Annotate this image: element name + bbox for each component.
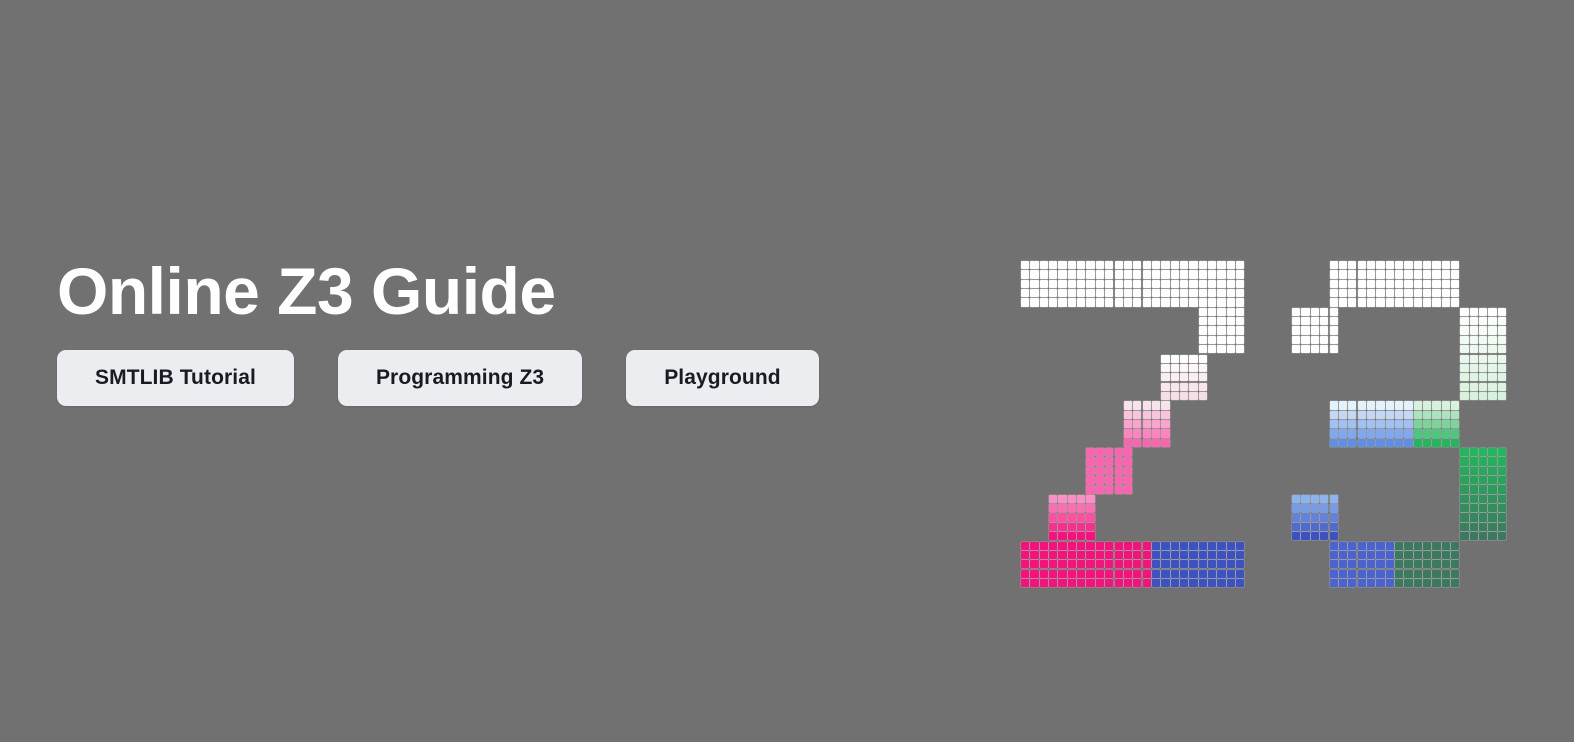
logo-pixel xyxy=(1030,579,1038,587)
logo-pixel xyxy=(1058,551,1066,559)
logo-pixel xyxy=(1143,579,1151,587)
programming-z3-button[interactable]: Programming Z3 xyxy=(338,350,582,406)
logo-pixel xyxy=(1199,308,1207,316)
logo-pixel xyxy=(1442,551,1450,559)
logo-pixel xyxy=(1470,495,1478,503)
cta-button-row: SMTLIB Tutorial Programming Z3 Playgroun… xyxy=(57,350,957,406)
logo-pixel xyxy=(1049,532,1057,540)
logo-pixel xyxy=(1105,298,1113,306)
logo-pixel xyxy=(1021,280,1029,288)
logo-pixel xyxy=(1395,289,1403,297)
logo-pixel xyxy=(1058,532,1066,540)
logo-pixel xyxy=(1021,579,1029,587)
logo-pixel xyxy=(1058,270,1066,278)
logo-pixel xyxy=(1171,289,1179,297)
logo-pixel xyxy=(1217,289,1225,297)
logo-pixel xyxy=(1217,570,1225,578)
logo-pixel xyxy=(1386,570,1394,578)
logo-pixel xyxy=(1404,429,1412,437)
logo-pixel xyxy=(1311,513,1319,521)
logo-pixel xyxy=(1367,411,1375,419)
logo-pixel xyxy=(1488,448,1496,456)
logo-pixel xyxy=(1330,504,1338,512)
logo-pixel xyxy=(1320,504,1328,512)
logo-pixel xyxy=(1068,542,1076,550)
logo-pixel xyxy=(1124,542,1132,550)
logo-pixel xyxy=(1386,411,1394,419)
logo-pixel xyxy=(1068,532,1076,540)
logo-pixel xyxy=(1086,261,1094,269)
logo-pixel xyxy=(1105,570,1113,578)
logo-pixel xyxy=(1049,298,1057,306)
logo-pixel xyxy=(1180,570,1188,578)
logo-pixel xyxy=(1199,392,1207,400)
logo-pixel xyxy=(1330,542,1338,550)
logo-pixel xyxy=(1488,373,1496,381)
logo-pixel xyxy=(1236,317,1244,325)
logo-pixel xyxy=(1348,401,1356,409)
logo-pixel xyxy=(1236,542,1244,550)
logo-pixel xyxy=(1348,570,1356,578)
logo-pixel xyxy=(1171,542,1179,550)
logo-pixel xyxy=(1460,392,1468,400)
logo-pixel xyxy=(1442,570,1450,578)
logo-pixel xyxy=(1077,280,1085,288)
logo-pixel xyxy=(1180,298,1188,306)
logo-pixel xyxy=(1395,280,1403,288)
logo-pixel xyxy=(1442,420,1450,428)
logo-pixel xyxy=(1451,411,1459,419)
logo-pixel xyxy=(1143,429,1151,437)
logo-pixel xyxy=(1143,261,1151,269)
logo-pixel xyxy=(1451,542,1459,550)
logo-pixel xyxy=(1479,467,1487,475)
logo-pixel xyxy=(1442,289,1450,297)
logo-pixel xyxy=(1105,579,1113,587)
z3-pixel-logo xyxy=(1021,261,1521,591)
logo-pixel xyxy=(1311,317,1319,325)
logo-pixel xyxy=(1470,485,1478,493)
logo-pixel xyxy=(1161,373,1169,381)
logo-pixel xyxy=(1171,298,1179,306)
logo-pixel xyxy=(1115,542,1123,550)
logo-pixel xyxy=(1339,298,1347,306)
logo-pixel xyxy=(1217,326,1225,334)
logo-pixel xyxy=(1096,289,1104,297)
logo-pixel xyxy=(1208,261,1216,269)
logo-pixel xyxy=(1479,495,1487,503)
logo-pixel xyxy=(1068,560,1076,568)
logo-pixel xyxy=(1451,261,1459,269)
logo-pixel xyxy=(1470,513,1478,521)
logo-pixel xyxy=(1358,280,1366,288)
logo-pixel xyxy=(1460,457,1468,465)
logo-pixel xyxy=(1311,345,1319,353)
logo-pixel xyxy=(1498,364,1506,372)
logo-pixel xyxy=(1479,317,1487,325)
logo-pixel xyxy=(1152,298,1160,306)
logo-pixel xyxy=(1143,289,1151,297)
logo-pixel xyxy=(1189,579,1197,587)
logo-pixel xyxy=(1386,280,1394,288)
logo-pixel xyxy=(1292,308,1300,316)
logo-pixel xyxy=(1301,495,1309,503)
logo-pixel xyxy=(1180,261,1188,269)
logo-pixel xyxy=(1143,401,1151,409)
logo-pixel xyxy=(1479,448,1487,456)
logo-pixel xyxy=(1404,289,1412,297)
logo-pixel xyxy=(1358,270,1366,278)
logo-pixel xyxy=(1386,439,1394,447)
logo-pixel xyxy=(1040,560,1048,568)
logo-pixel xyxy=(1330,560,1338,568)
logo-pixel xyxy=(1189,383,1197,391)
logo-pixel xyxy=(1077,570,1085,578)
logo-pixel xyxy=(1470,308,1478,316)
logo-pixel xyxy=(1330,579,1338,587)
logo-pixel xyxy=(1133,270,1141,278)
logo-pixel xyxy=(1096,457,1104,465)
logo-pixel xyxy=(1236,289,1244,297)
logo-pixel xyxy=(1058,261,1066,269)
logo-pixel xyxy=(1086,495,1094,503)
logo-pixel xyxy=(1311,532,1319,540)
logo-pixel xyxy=(1021,261,1029,269)
logo-pixel xyxy=(1058,513,1066,521)
logo-pixel xyxy=(1470,467,1478,475)
logo-pixel xyxy=(1208,280,1216,288)
logo-pixel xyxy=(1086,551,1094,559)
logo-pixel xyxy=(1301,513,1309,521)
logo-pixel xyxy=(1180,364,1188,372)
logo-pixel xyxy=(1161,364,1169,372)
logo-pixel xyxy=(1358,560,1366,568)
logo-pixel xyxy=(1030,280,1038,288)
logo-pixel xyxy=(1096,579,1104,587)
logo-pixel xyxy=(1292,504,1300,512)
logo-pixel xyxy=(1320,336,1328,344)
logo-pixel xyxy=(1432,429,1440,437)
logo-pixel xyxy=(1161,420,1169,428)
logo-pixel xyxy=(1208,570,1216,578)
logo-pixel xyxy=(1133,401,1141,409)
logo-pixel xyxy=(1376,280,1384,288)
logo-pixel xyxy=(1086,485,1094,493)
logo-pixel xyxy=(1133,261,1141,269)
logo-pixel xyxy=(1217,579,1225,587)
logo-pixel xyxy=(1227,308,1235,316)
logo-pixel xyxy=(1301,532,1309,540)
logo-pixel xyxy=(1414,298,1422,306)
logo-pixel xyxy=(1404,298,1412,306)
logo-pixel xyxy=(1395,411,1403,419)
logo-pixel xyxy=(1386,542,1394,550)
logo-pixel xyxy=(1180,551,1188,559)
logo-pixel xyxy=(1115,467,1123,475)
logo-pixel xyxy=(1376,261,1384,269)
logo-pixel xyxy=(1227,336,1235,344)
logo-pixel xyxy=(1330,570,1338,578)
logo-pixel xyxy=(1077,532,1085,540)
logo-pixel xyxy=(1133,298,1141,306)
logo-pixel xyxy=(1236,308,1244,316)
logo-pixel xyxy=(1208,298,1216,306)
logo-pixel xyxy=(1030,261,1038,269)
logo-pixel xyxy=(1133,289,1141,297)
logo-pixel xyxy=(1386,429,1394,437)
logo-pixel xyxy=(1152,420,1160,428)
logo-pixel xyxy=(1498,308,1506,316)
logo-pixel xyxy=(1077,560,1085,568)
logo-pixel xyxy=(1171,383,1179,391)
logo-pixel xyxy=(1386,579,1394,587)
logo-pixel xyxy=(1030,570,1038,578)
logo-pixel xyxy=(1115,457,1123,465)
logo-pixel xyxy=(1376,579,1384,587)
logo-pixel xyxy=(1470,504,1478,512)
logo-pixel xyxy=(1189,392,1197,400)
logo-pixel xyxy=(1133,542,1141,550)
logo-pixel xyxy=(1320,523,1328,531)
logo-pixel xyxy=(1040,261,1048,269)
logo-pixel xyxy=(1105,560,1113,568)
logo-pixel xyxy=(1105,280,1113,288)
logo-pixel xyxy=(1470,383,1478,391)
logo-pixel xyxy=(1077,298,1085,306)
logo-pixel xyxy=(1479,504,1487,512)
logo-pixel xyxy=(1339,411,1347,419)
logo-pixel xyxy=(1077,270,1085,278)
logo-pixel xyxy=(1460,345,1468,353)
logo-pixel xyxy=(1030,298,1038,306)
logo-pixel xyxy=(1498,495,1506,503)
logo-pixel xyxy=(1086,532,1094,540)
logo-pixel xyxy=(1217,345,1225,353)
logo-pixel xyxy=(1049,270,1057,278)
logo-pixel xyxy=(1311,504,1319,512)
logo-pixel xyxy=(1460,326,1468,334)
logo-pixel xyxy=(1414,261,1422,269)
logo-pixel xyxy=(1460,364,1468,372)
logo-pixel xyxy=(1348,298,1356,306)
logo-pixel xyxy=(1292,523,1300,531)
logo-pixel xyxy=(1404,270,1412,278)
logo-pixel xyxy=(1498,532,1506,540)
logo-pixel xyxy=(1498,336,1506,344)
logo-pixel xyxy=(1199,345,1207,353)
logo-pixel xyxy=(1105,448,1113,456)
logo-pixel xyxy=(1498,523,1506,531)
logo-pixel xyxy=(1414,560,1422,568)
logo-pixel xyxy=(1086,280,1094,288)
logo-pixel xyxy=(1086,457,1094,465)
logo-pixel xyxy=(1320,345,1328,353)
logo-pixel xyxy=(1358,579,1366,587)
logo-pixel xyxy=(1105,261,1113,269)
logo-pixel xyxy=(1488,523,1496,531)
logo-pixel xyxy=(1488,513,1496,521)
logo-pixel xyxy=(1124,579,1132,587)
logo-pixel xyxy=(1451,439,1459,447)
logo-pixel xyxy=(1395,570,1403,578)
logo-pixel xyxy=(1330,308,1338,316)
logo-pixel xyxy=(1058,289,1066,297)
logo-pixel xyxy=(1460,495,1468,503)
logo-pixel xyxy=(1058,298,1066,306)
logo-pixel xyxy=(1358,289,1366,297)
logo-pixel xyxy=(1348,439,1356,447)
logo-pixel xyxy=(1404,560,1412,568)
logo-pixel xyxy=(1161,579,1169,587)
logo-pixel xyxy=(1236,280,1244,288)
logo-pixel xyxy=(1423,542,1431,550)
logo-pixel xyxy=(1105,457,1113,465)
logo-pixel xyxy=(1068,570,1076,578)
logo-pixel xyxy=(1161,289,1169,297)
logo-pixel xyxy=(1498,476,1506,484)
logo-pixel xyxy=(1395,420,1403,428)
logo-pixel xyxy=(1217,261,1225,269)
logo-pixel xyxy=(1432,542,1440,550)
logo-pixel xyxy=(1086,542,1094,550)
logo-pixel xyxy=(1199,336,1207,344)
logo-pixel xyxy=(1414,579,1422,587)
logo-pixel xyxy=(1451,420,1459,428)
logo-pixel xyxy=(1227,560,1235,568)
logo-pixel xyxy=(1479,373,1487,381)
logo-pixel xyxy=(1124,448,1132,456)
logo-pixel xyxy=(1460,513,1468,521)
logo-pixel xyxy=(1376,429,1384,437)
logo-pixel xyxy=(1292,513,1300,521)
logo-pixel xyxy=(1367,401,1375,409)
logo-pixel xyxy=(1367,570,1375,578)
logo-pixel xyxy=(1498,383,1506,391)
logo-pixel xyxy=(1171,261,1179,269)
logo-pixel xyxy=(1330,345,1338,353)
logo-pixel xyxy=(1376,420,1384,428)
logo-pixel xyxy=(1498,373,1506,381)
logo-pixel xyxy=(1488,345,1496,353)
logo-pixel xyxy=(1423,270,1431,278)
logo-pixel xyxy=(1423,570,1431,578)
logo-pixel xyxy=(1451,429,1459,437)
logo-pixel xyxy=(1058,523,1066,531)
logo-pixel xyxy=(1348,289,1356,297)
logo-pixel xyxy=(1208,326,1216,334)
logo-pixel xyxy=(1479,513,1487,521)
logo-pixel xyxy=(1171,570,1179,578)
logo-pixel xyxy=(1376,298,1384,306)
logo-pixel xyxy=(1217,317,1225,325)
logo-pixel xyxy=(1479,364,1487,372)
logo-pixel xyxy=(1124,401,1132,409)
logo-pixel xyxy=(1460,467,1468,475)
logo-pixel xyxy=(1301,308,1309,316)
logo-pixel xyxy=(1330,551,1338,559)
logo-pixel xyxy=(1227,289,1235,297)
logo-pixel xyxy=(1414,551,1422,559)
logo-pixel xyxy=(1292,317,1300,325)
logo-pixel xyxy=(1367,542,1375,550)
page-title: Online Z3 Guide xyxy=(57,258,957,325)
logo-pixel xyxy=(1068,504,1076,512)
logo-pixel xyxy=(1199,270,1207,278)
logo-pixel xyxy=(1133,560,1141,568)
logo-pixel xyxy=(1451,560,1459,568)
logo-pixel xyxy=(1040,579,1048,587)
logo-pixel xyxy=(1460,476,1468,484)
logo-pixel xyxy=(1488,383,1496,391)
logo-pixel xyxy=(1180,355,1188,363)
logo-pixel xyxy=(1376,439,1384,447)
logo-pixel xyxy=(1330,523,1338,531)
logo-pixel xyxy=(1086,579,1094,587)
logo-pixel xyxy=(1479,523,1487,531)
logo-pixel xyxy=(1124,485,1132,493)
logo-pixel xyxy=(1189,570,1197,578)
logo-pixel xyxy=(1217,560,1225,568)
logo-pixel xyxy=(1367,560,1375,568)
logo-pixel xyxy=(1470,364,1478,372)
logo-pixel xyxy=(1161,439,1169,447)
logo-pixel xyxy=(1180,383,1188,391)
logo-pixel xyxy=(1208,270,1216,278)
logo-pixel xyxy=(1404,411,1412,419)
logo-pixel xyxy=(1086,448,1094,456)
playground-button[interactable]: Playground xyxy=(626,350,819,406)
logo-pixel xyxy=(1330,280,1338,288)
logo-pixel xyxy=(1386,289,1394,297)
logo-pixel xyxy=(1348,542,1356,550)
logo-pixel xyxy=(1021,270,1029,278)
logo-pixel xyxy=(1124,476,1132,484)
logo-pixel xyxy=(1058,280,1066,288)
logo-pixel xyxy=(1189,551,1197,559)
logo-pixel xyxy=(1395,542,1403,550)
logo-pixel xyxy=(1301,317,1309,325)
logo-pixel xyxy=(1292,495,1300,503)
hero-text-column: Online Z3 Guide SMTLIB Tutorial Programm… xyxy=(57,258,957,406)
logo-pixel xyxy=(1105,467,1113,475)
logo-pixel xyxy=(1339,401,1347,409)
logo-pixel xyxy=(1124,270,1132,278)
logo-pixel xyxy=(1086,513,1094,521)
logo-pixel xyxy=(1470,476,1478,484)
logo-pixel xyxy=(1292,345,1300,353)
logo-pixel xyxy=(1292,532,1300,540)
logo-pixel xyxy=(1404,439,1412,447)
logo-pixel xyxy=(1395,429,1403,437)
smtlib-tutorial-button[interactable]: SMTLIB Tutorial xyxy=(57,350,294,406)
logo-pixel xyxy=(1171,579,1179,587)
logo-pixel xyxy=(1470,336,1478,344)
logo-pixel xyxy=(1367,579,1375,587)
logo-pixel xyxy=(1404,280,1412,288)
logo-pixel xyxy=(1180,289,1188,297)
logo-pixel xyxy=(1460,317,1468,325)
logo-pixel xyxy=(1161,355,1169,363)
logo-pixel xyxy=(1236,345,1244,353)
logo-pixel xyxy=(1189,289,1197,297)
logo-pixel xyxy=(1068,523,1076,531)
logo-pixel xyxy=(1152,542,1160,550)
logo-pixel xyxy=(1442,542,1450,550)
logo-pixel xyxy=(1479,485,1487,493)
logo-pixel xyxy=(1451,289,1459,297)
logo-pixel xyxy=(1077,579,1085,587)
logo-pixel xyxy=(1432,401,1440,409)
